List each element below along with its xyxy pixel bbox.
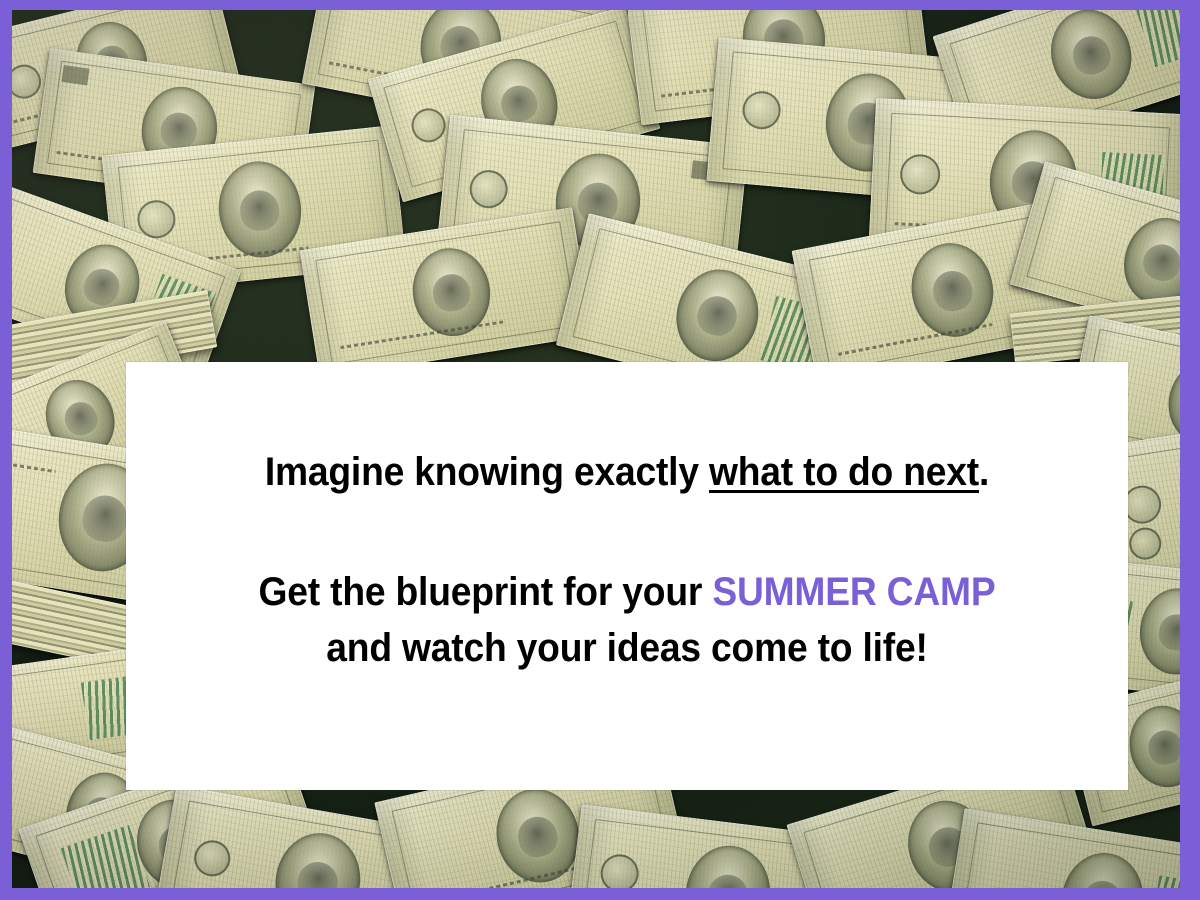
banknote-portrait: [680, 841, 775, 888]
banknote-seal: [468, 168, 510, 210]
presentation-slide: Imagine knowing exactly what to do next.…: [0, 0, 1200, 900]
banknote-portrait: [1055, 847, 1150, 888]
banknote-microtext: [12, 456, 55, 473]
banknote-seal: [899, 153, 941, 195]
headline-trailing-text: .: [979, 450, 989, 494]
banknote-microtext: [340, 321, 504, 350]
headline: Imagine knowing exactly what to do next.: [161, 448, 1093, 496]
banknote-portrait: [268, 827, 367, 888]
banknote-seal: [1127, 525, 1164, 562]
banknote-seal: [408, 104, 450, 146]
banknote-denomination: [62, 65, 90, 85]
banknote-seal: [191, 837, 233, 879]
banknote-seal: [12, 61, 44, 102]
banknote-green-panel: [1149, 875, 1180, 888]
headline-lead-text: Imagine knowing exactly: [265, 450, 709, 494]
banknote-seal: [598, 853, 640, 888]
subhead: Get the blueprint for your SUMMER CAMP a…: [161, 564, 1093, 676]
banknote-portrait: [1040, 10, 1142, 109]
banknote-portrait: [406, 242, 496, 341]
subhead-lead-text: Get the blueprint for your: [259, 570, 713, 614]
banknote-seal: [741, 90, 782, 131]
banknote-portrait: [1136, 585, 1180, 678]
banknote-portrait: [904, 236, 1002, 344]
text-content-card: Imagine knowing exactly what to do next.…: [126, 362, 1128, 790]
banknote-green-panel: [1135, 10, 1180, 67]
banknote-portrait: [1121, 698, 1180, 794]
banknote-portrait: [667, 261, 768, 370]
subhead-line-2: and watch your ideas come to life!: [161, 620, 1093, 676]
subhead-line-1: Get the blueprint for your SUMMER CAMP: [161, 564, 1093, 620]
banknote-portrait: [214, 158, 305, 261]
banknote-microtext: [838, 323, 992, 356]
headline-emphasis-text: what to do next: [709, 450, 979, 494]
subhead-accent-text: SUMMER CAMP: [712, 570, 995, 614]
